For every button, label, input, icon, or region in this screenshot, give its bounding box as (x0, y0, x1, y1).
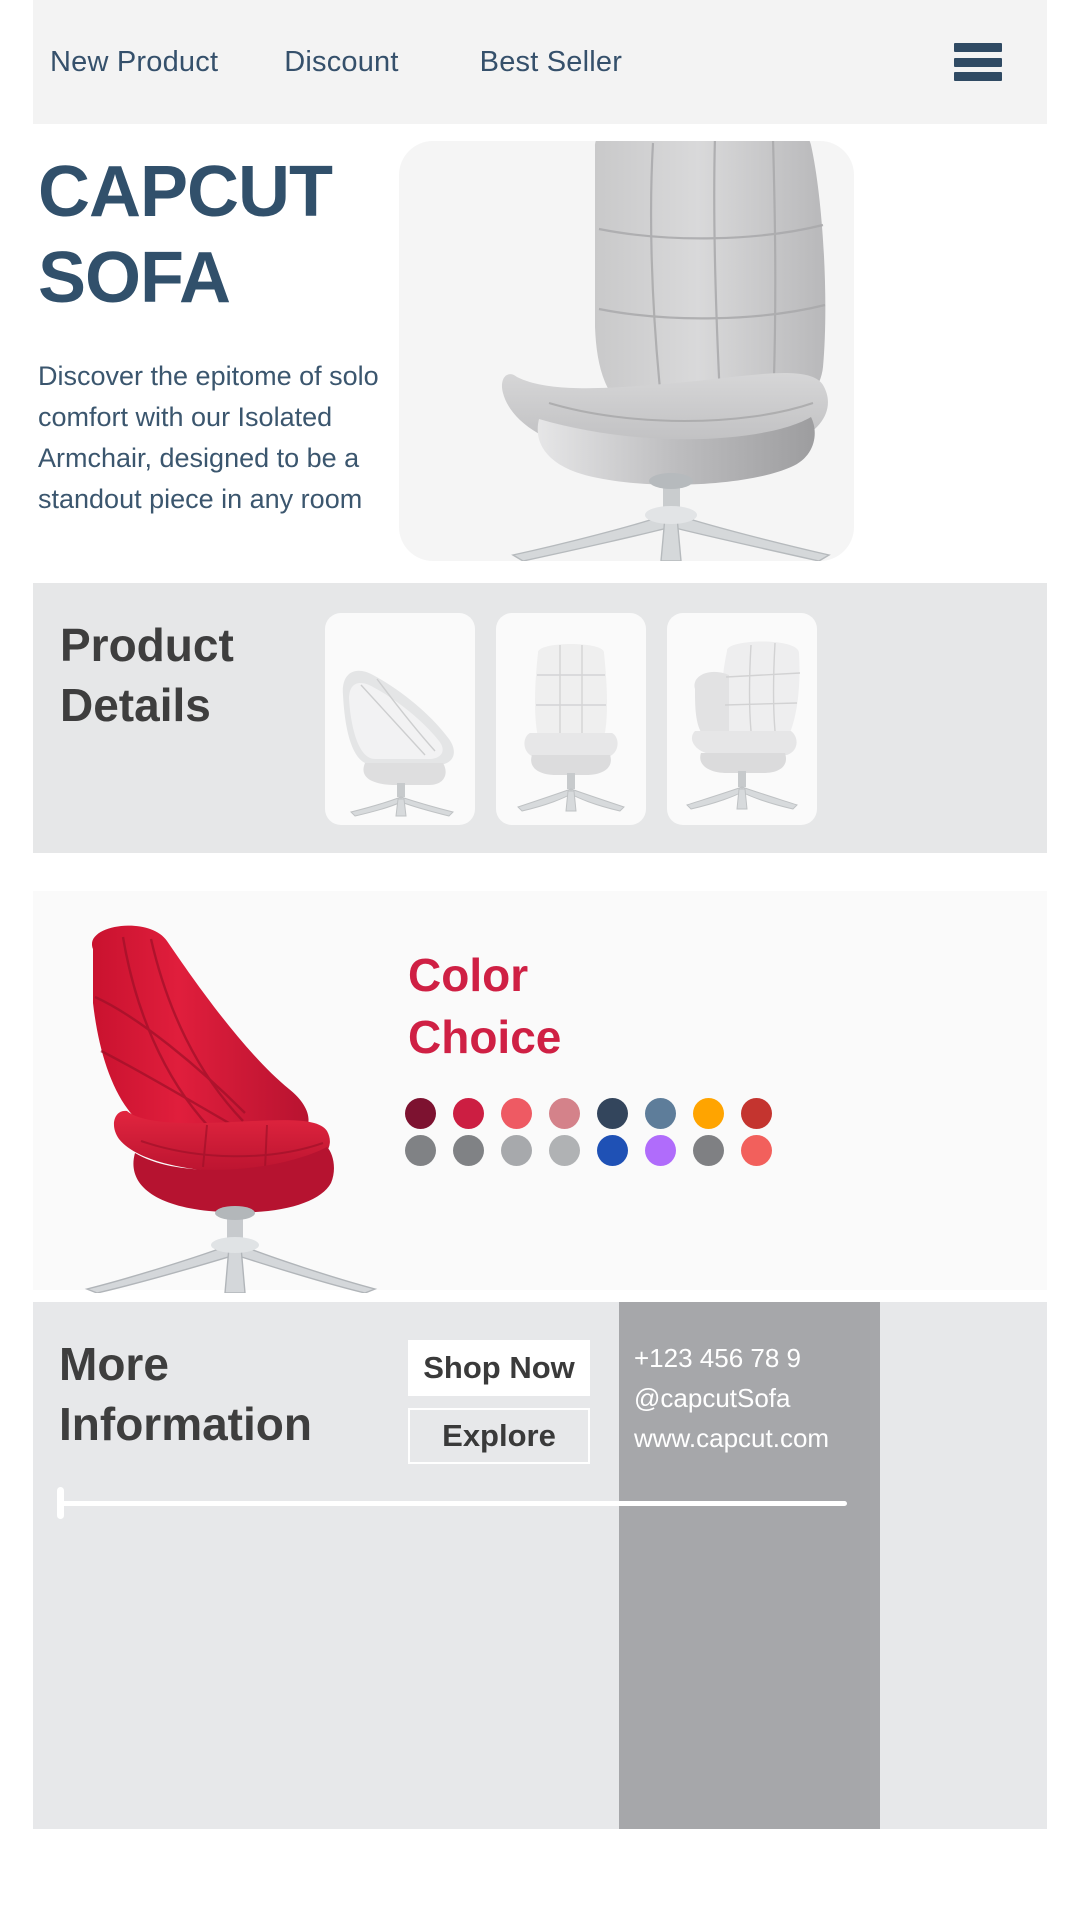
more-information-section: MoreInformation Shop Now Explore +123 45… (33, 1302, 1047, 1829)
page-title: CAPCUTSOFA (38, 149, 458, 321)
product-thumbnail-list (325, 613, 817, 825)
color-swatch-cell (549, 1132, 597, 1169)
color-swatch-grey-medium-dark[interactable] (453, 1135, 484, 1166)
color-swatch-cell (741, 1095, 789, 1132)
hamburger-bar-2 (954, 58, 1002, 67)
color-swatch-cell (549, 1095, 597, 1132)
shop-now-button[interactable]: Shop Now (408, 1340, 590, 1396)
grey-armchair-image (399, 141, 854, 561)
product-thumbnail-1[interactable] (325, 613, 475, 825)
contact-phone[interactable]: +123 456 78 9 (634, 1338, 874, 1378)
product-details-section: ProductDetails (33, 583, 1047, 853)
color-swatch-brick-red[interactable] (741, 1098, 772, 1129)
color-swatch-salmon[interactable] (741, 1135, 772, 1166)
contact-social[interactable]: @capcutSofa (634, 1378, 874, 1418)
hero-title-line-1: CAPCUT (38, 152, 332, 232)
color-swatch-cell (597, 1132, 645, 1169)
color-swatch-crimson[interactable] (453, 1098, 484, 1129)
product-thumbnail-3[interactable] (667, 613, 817, 825)
hamburger-bar-1 (954, 43, 1002, 52)
nav-link-best-seller[interactable]: Best Seller (480, 46, 622, 79)
color-choice-section: ColorChoice (33, 891, 1047, 1290)
color-title-line-2: Choice (408, 1011, 561, 1063)
nav-links: New Product Discount Best Seller (33, 46, 622, 79)
explore-button[interactable]: Explore (408, 1408, 590, 1464)
color-swatch-violet[interactable] (645, 1135, 676, 1166)
hamburger-menu-icon[interactable] (954, 43, 1002, 81)
more-information-title: MoreInformation (59, 1334, 459, 1454)
footer-title-line-2: Information (59, 1398, 312, 1450)
color-swatch-cell (741, 1132, 789, 1169)
color-swatch-cell (645, 1095, 693, 1132)
color-swatch-navy-slate[interactable] (597, 1098, 628, 1129)
product-landing-page: New Product Discount Best Seller CAPCUTS… (0, 0, 1080, 1920)
top-navbar: New Product Discount Best Seller (33, 0, 1047, 124)
progress-slider[interactable] (57, 1487, 847, 1519)
color-swatch-cell (645, 1132, 693, 1169)
color-swatch-cell (693, 1132, 741, 1169)
color-swatch-cell (453, 1132, 501, 1169)
color-swatch-royal-blue[interactable] (597, 1135, 628, 1166)
color-swatch-grid (405, 1095, 789, 1169)
color-swatch-coral-red[interactable] (501, 1098, 532, 1129)
nav-link-new-product[interactable]: New Product (50, 46, 218, 79)
color-swatch-cell (693, 1095, 741, 1132)
color-choice-title: ColorChoice (408, 944, 748, 1068)
details-title-line-1: Product (60, 619, 234, 671)
slider-track (57, 1501, 847, 1506)
armchair-side-reclined-view-icon (325, 613, 475, 825)
color-swatch-cell (597, 1095, 645, 1132)
color-swatch-dusty-rose[interactable] (549, 1098, 580, 1129)
footer-title-line-1: More (59, 1338, 169, 1390)
color-swatch-amber[interactable] (693, 1098, 724, 1129)
hero-section: CAPCUTSOFA Discover the epitome of solo … (0, 124, 1080, 579)
color-swatch-grey-dark[interactable] (405, 1135, 436, 1166)
color-swatch-grey-neutral[interactable] (693, 1135, 724, 1166)
armchair-front-view-icon (496, 613, 646, 825)
color-swatch-dark-burgundy[interactable] (405, 1098, 436, 1129)
red-armchair-image (31, 913, 421, 1293)
hero-description: Discover the epitome of solo comfort wit… (38, 356, 398, 520)
contact-info: +123 456 78 9 @capcutSofa www.capcut.com (634, 1338, 874, 1458)
color-swatch-grey-light[interactable] (549, 1135, 580, 1166)
hamburger-bar-3 (954, 72, 1002, 81)
color-swatch-cell (453, 1095, 501, 1132)
hero-product-image-card (399, 141, 854, 561)
product-thumbnail-2[interactable] (496, 613, 646, 825)
hero-title-line-2: SOFA (38, 238, 230, 318)
color-swatch-cell (405, 1132, 453, 1169)
nav-link-discount[interactable]: Discount (284, 46, 398, 79)
color-swatch-steel-blue[interactable] (645, 1098, 676, 1129)
color-swatch-cell (501, 1132, 549, 1169)
armchair-three-quarter-back-view-icon (667, 613, 817, 825)
contact-website[interactable]: www.capcut.com (634, 1418, 874, 1458)
slider-handle[interactable] (57, 1487, 64, 1519)
color-swatch-grey-medium[interactable] (501, 1135, 532, 1166)
color-swatch-cell (501, 1095, 549, 1132)
details-title-line-2: Details (60, 679, 211, 731)
color-swatch-cell (405, 1095, 453, 1132)
color-title-line-1: Color (408, 949, 528, 1001)
